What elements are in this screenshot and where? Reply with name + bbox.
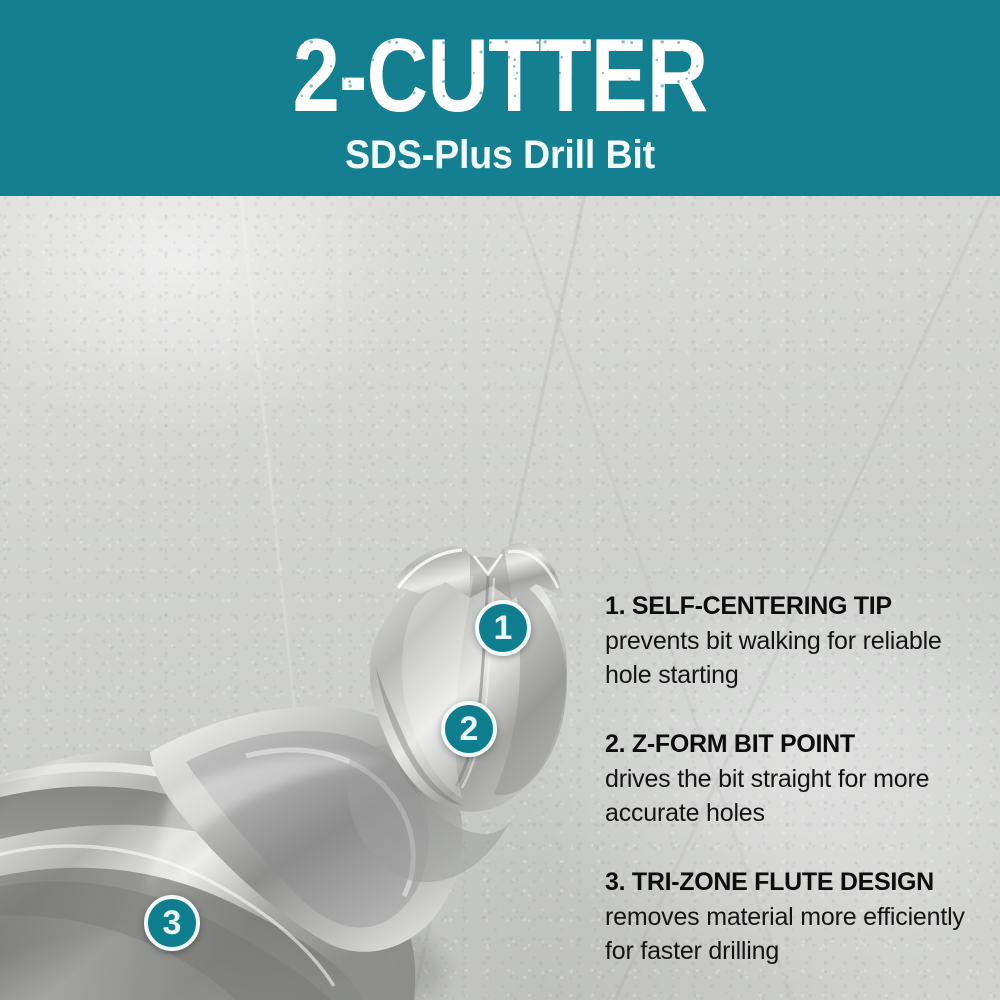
header-band: 2-CUTTER SDS-Plus Drill Bit <box>0 0 1000 196</box>
feature-list: 1. SELF-CENTERING TIP prevents bit walki… <box>605 590 975 968</box>
feature-item-2: 2. Z-FORM BIT POINT drives the bit strai… <box>605 728 975 830</box>
feature-item-3: 3. TRI-ZONE FLUTE DESIGN removes materia… <box>605 866 975 968</box>
callout-badge-3[interactable]: 3 <box>144 895 200 951</box>
callout-badge-1[interactable]: 1 <box>475 600 531 656</box>
product-infographic: 2-CUTTER SDS-Plus Drill Bit <box>0 0 1000 1000</box>
product-photo-area: 1 2 3 1. SELF-CENTERING TIP prevents bit… <box>0 196 1000 1000</box>
feature-description-2: drives the bit straight for more accurat… <box>605 762 975 830</box>
callout-badge-2[interactable]: 2 <box>441 701 497 757</box>
headline-wrap: 2-CUTTER <box>0 0 1000 130</box>
page-title: 2-CUTTER <box>90 26 910 126</box>
feature-title-1: 1. SELF-CENTERING TIP <box>605 590 975 623</box>
feature-description-1: prevents bit walking for reliable hole s… <box>605 624 975 692</box>
feature-item-1: 1. SELF-CENTERING TIP prevents bit walki… <box>605 590 975 692</box>
feature-title-3: 3. TRI-ZONE FLUTE DESIGN <box>605 866 975 899</box>
page-subtitle: SDS-Plus Drill Bit <box>30 132 970 178</box>
feature-title-2: 2. Z-FORM BIT POINT <box>605 728 975 761</box>
feature-description-3: removes material more efficiently for fa… <box>605 900 975 968</box>
